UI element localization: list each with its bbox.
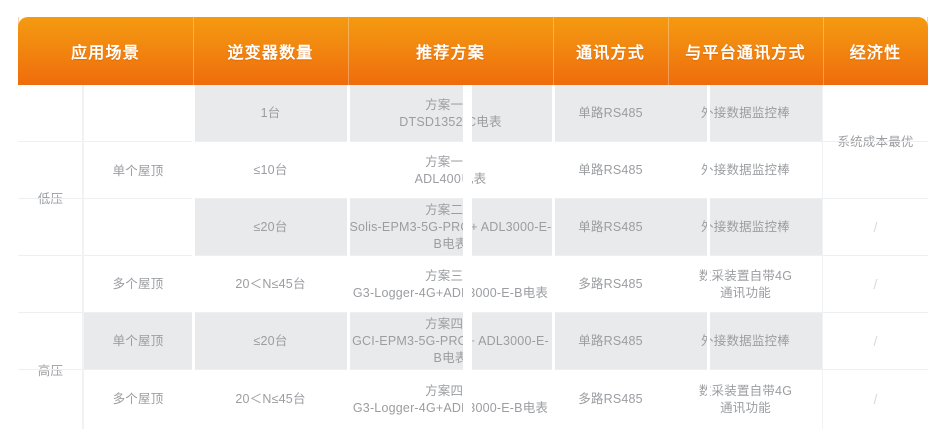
cell-roof-single-low: 单个屋顶 xyxy=(83,85,193,256)
solution-detail: GCI-EPM3-5G-PRO+ ADL3000-E-B电表 xyxy=(352,334,549,365)
table-body: 1台 方案一： DTSD1352-C电表 单路RS485 外接数据监控棒 ≤10… xyxy=(18,85,928,429)
cell-inverter-count: ≤10台 xyxy=(193,142,348,199)
economy-value: / xyxy=(873,333,877,350)
platform-line-1: 数采装置自带4G xyxy=(699,384,792,398)
cell-roof: 多个屋顶 xyxy=(83,256,193,313)
platform-line-2: 通讯功能 xyxy=(720,286,771,300)
solution-title: 方案二： xyxy=(425,203,476,217)
cell-inverter-count: ≤20台 xyxy=(193,313,348,370)
cell-recommended-solution: 方案一： ADL400电表 xyxy=(348,142,553,199)
cell-communication: 多路RS485 xyxy=(553,370,668,429)
cell-economy: / xyxy=(823,199,928,256)
cell-inverter-count: 20＜N≤45台 xyxy=(193,370,348,429)
column-header-economy: 经济性 xyxy=(823,17,928,85)
cell-platform-communication: 数采装置自带4G 通讯功能 xyxy=(668,370,823,429)
cell-platform-communication: 外接数据监控棒 xyxy=(668,85,823,142)
solution-title: 方案四： xyxy=(425,317,476,331)
cell-economy: / xyxy=(823,313,928,370)
cell-economy: / xyxy=(823,256,928,313)
cell-communication: 多路RS485 xyxy=(553,256,668,313)
cell-platform-communication: 外接数据监控棒 xyxy=(668,142,823,199)
platform-line-2: 通讯功能 xyxy=(720,401,771,415)
cell-roof: 多个屋顶 xyxy=(83,370,193,429)
cell-recommended-solution: 方案二： Solis-EPM3-5G-PRO+ ADL3000-E-B电表 xyxy=(348,199,553,256)
cell-recommended-solution: 方案四： G3-Logger-4G+ADL3000-E-B电表 xyxy=(348,370,553,429)
cell-platform-communication: 数采装置自带4G 通讯功能 xyxy=(668,256,823,313)
solution-detail: Solis-EPM3-5G-PRO+ ADL3000-E-B电表 xyxy=(349,220,551,251)
cell-roof: 单个屋顶 xyxy=(83,313,193,370)
screenshot-root: 应用场景 逆变器数量 推荐方案 通讯方式 与平台通讯方式 经济性 1台 方案一：… xyxy=(0,0,946,447)
cell-communication: 单路RS485 xyxy=(553,142,668,199)
cell-economy: / xyxy=(823,370,928,429)
solution-title: 方案一： xyxy=(425,155,476,169)
column-header-communication: 通讯方式 xyxy=(553,17,668,85)
table-header-row: 应用场景 逆变器数量 推荐方案 通讯方式 与平台通讯方式 经济性 xyxy=(18,17,928,85)
solution-title: 方案四： xyxy=(425,384,476,398)
solution-detail: DTSD1352-C电表 xyxy=(399,115,501,129)
cell-recommended-solution: 方案三： G3-Logger-4G+ADL3000-E-B电表 xyxy=(348,256,553,313)
cell-inverter-count: 1台 xyxy=(193,85,348,142)
column-header-platform-communication: 与平台通讯方式 xyxy=(668,17,823,85)
platform-line-1: 数采装置自带4G xyxy=(699,269,792,283)
solution-title: 方案三： xyxy=(425,269,476,283)
cell-voltage-low: 低压 xyxy=(18,85,83,313)
column-header-scenario: 应用场景 xyxy=(18,17,193,85)
solution-detail: ADL400电表 xyxy=(415,172,487,186)
economy-value: / xyxy=(873,219,877,236)
solution-detail: G3-Logger-4G+ADL3000-E-B电表 xyxy=(353,286,548,300)
economy-value: / xyxy=(873,391,877,408)
table-row: 多个屋顶 20＜N≤45台 方案四： G3-Logger-4G+ADL3000-… xyxy=(18,370,928,429)
cell-recommended-solution: 方案一： DTSD1352-C电表 xyxy=(348,85,553,142)
cell-economy-best-cost: 系统成本最优 xyxy=(823,85,928,199)
table-row: 单个屋顶 ≤20台 方案四： GCI-EPM3-5G-PRO+ ADL3000-… xyxy=(18,313,928,370)
cell-communication: 单路RS485 xyxy=(553,199,668,256)
cell-communication: 单路RS485 xyxy=(553,313,668,370)
column-header-inverter-count: 逆变器数量 xyxy=(193,17,348,85)
cell-communication: 单路RS485 xyxy=(553,85,668,142)
cell-inverter-count: ≤20台 xyxy=(193,199,348,256)
cell-recommended-solution: 方案四： GCI-EPM3-5G-PRO+ ADL3000-E-B电表 xyxy=(348,313,553,370)
solution-detail: G3-Logger-4G+ADL3000-E-B电表 xyxy=(353,401,548,415)
column-header-recommended-solution: 推荐方案 xyxy=(348,17,553,85)
cell-voltage-high: 高压 xyxy=(18,313,83,429)
cell-platform-communication: 外接数据监控棒 xyxy=(668,199,823,256)
economy-value: / xyxy=(873,276,877,293)
cell-platform-communication: 外接数据监控棒 xyxy=(668,313,823,370)
table-row: 多个屋顶 20＜N≤45台 方案三： G3-Logger-4G+ADL3000-… xyxy=(18,256,928,313)
cell-inverter-count: 20＜N≤45台 xyxy=(193,256,348,313)
solution-title: 方案一： xyxy=(425,98,476,112)
